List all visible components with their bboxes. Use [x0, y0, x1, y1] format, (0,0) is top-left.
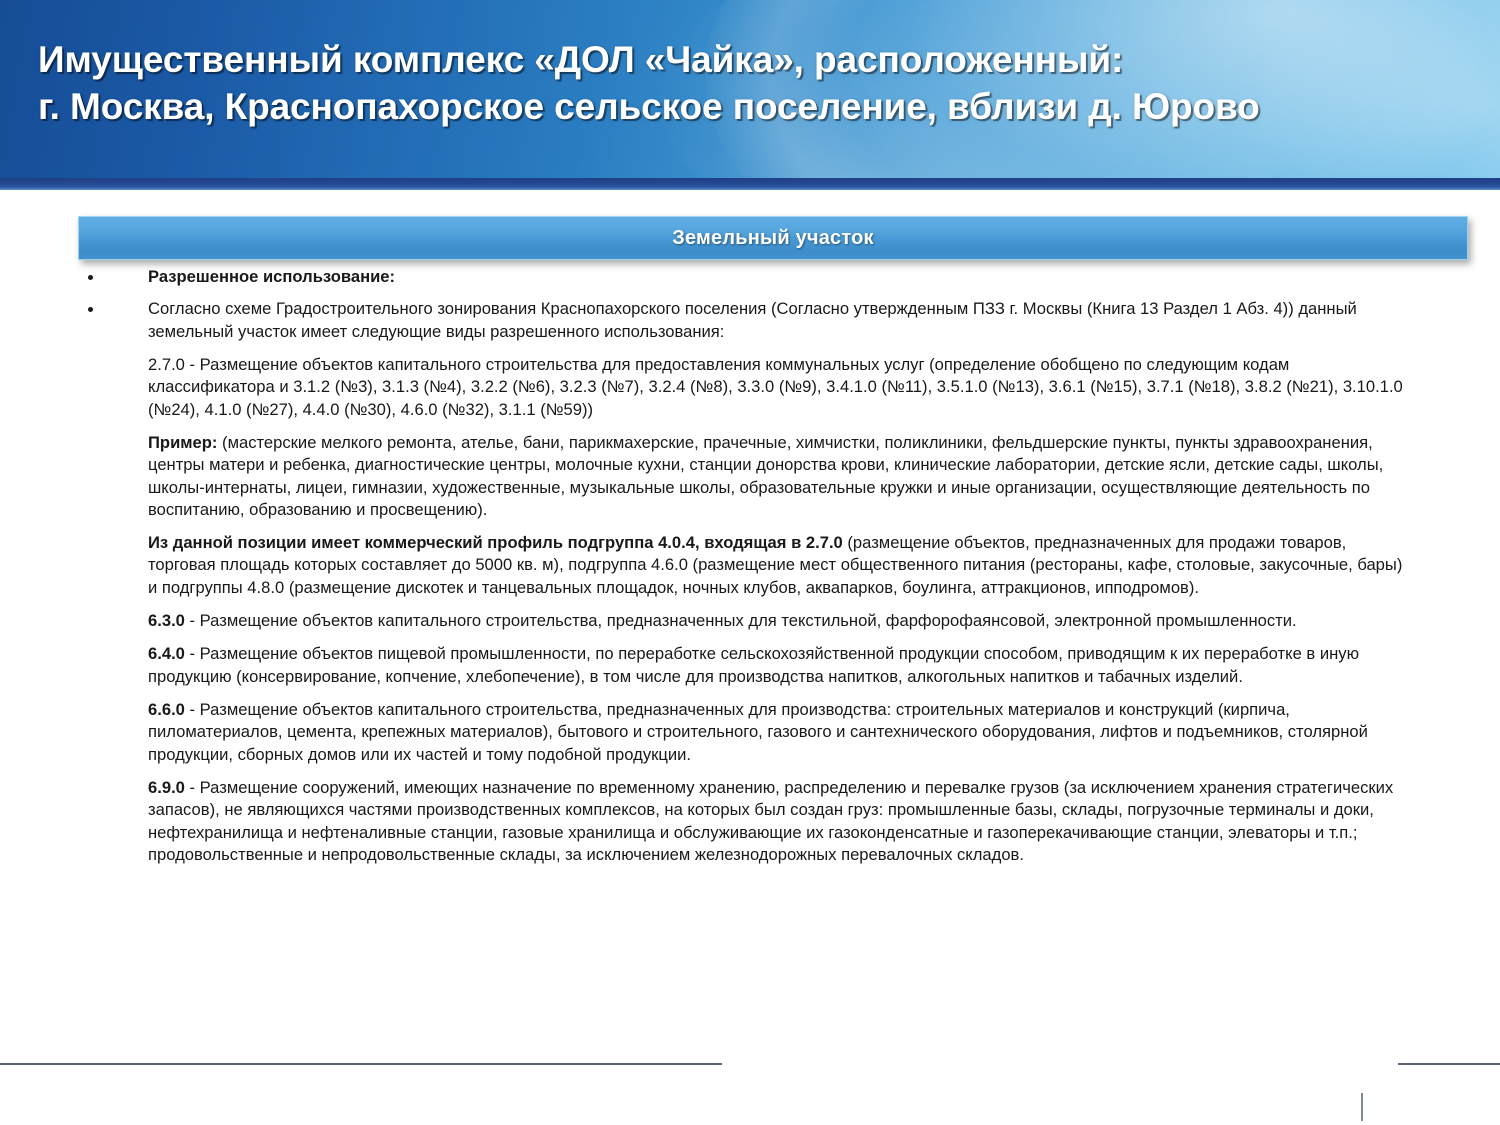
- code-6-4-0-text: - Размещение объектов пищевой промышленн…: [148, 644, 1359, 685]
- paragraph-example: Пример: (мастерские мелкого ремонта, ате…: [0, 432, 1500, 521]
- bullet-dot-icon: [88, 275, 93, 280]
- section-banner-label: Земельный участок: [672, 227, 873, 250]
- paragraph-commercial-profile: Из данной позиции имеет коммерческий про…: [0, 532, 1500, 599]
- paragraph-code-6-4-0: 6.4.0 - Размещение объектов пищевой пром…: [0, 643, 1500, 688]
- code-6-3-0-text: - Размещение объектов капитального строи…: [185, 611, 1297, 630]
- code-6-3-0-label: 6.3.0: [148, 611, 185, 630]
- permitted-use-label: Разрешенное использование:: [148, 267, 395, 286]
- paragraph-code-6-9-0: 6.9.0 - Размещение сооружений, имеющих н…: [0, 777, 1500, 866]
- bullet-dot-icon: [88, 307, 93, 312]
- bullet-item-zoning-scheme: Согласно схеме Градостроительного зониро…: [0, 298, 1500, 343]
- code-6-4-0-label: 6.4.0: [148, 644, 185, 663]
- commercial-profile-label: Из данной позиции имеет коммерческий про…: [148, 533, 843, 552]
- example-label: Пример:: [148, 433, 217, 452]
- code-6-6-0-text: - Размещение объектов капитального строи…: [148, 700, 1368, 764]
- section-banner: Земельный участок: [78, 216, 1468, 260]
- page-title: Имущественный комплекс «ДОЛ «Чайка», рас…: [38, 36, 1468, 131]
- paragraph-code-2-7-0: 2.7.0 - Размещение объектов капитального…: [0, 354, 1500, 421]
- example-text: (мастерские мелкого ремонта, ателье, бан…: [148, 433, 1383, 519]
- paragraph-code-6-3-0: 6.3.0 - Размещение объектов капитального…: [0, 610, 1500, 632]
- paragraph-code-6-6-0: 6.6.0 - Размещение объектов капитального…: [0, 699, 1500, 766]
- footer-divider-right: [1398, 1063, 1500, 1065]
- header-bottom-strip: [0, 178, 1500, 190]
- footer-tick-mark: [1361, 1093, 1363, 1121]
- code-6-9-0-label: 6.9.0: [148, 778, 185, 797]
- slide-header-banner: Имущественный комплекс «ДОЛ «Чайка», рас…: [0, 0, 1500, 190]
- code-6-6-0-label: 6.6.0: [148, 700, 185, 719]
- code-6-9-0-text: - Размещение сооружений, имеющих назначе…: [148, 778, 1393, 864]
- bullet-item-permitted-use: Разрешенное использование:: [0, 266, 1500, 288]
- footer-divider-left: [0, 1063, 722, 1065]
- content-body: Разрешенное использование: Согласно схем…: [0, 266, 1500, 866]
- slide: Имущественный комплекс «ДОЛ «Чайка», рас…: [0, 0, 1500, 1125]
- zoning-scheme-text: Согласно схеме Градостроительного зониро…: [148, 299, 1357, 340]
- code-2-7-0-text: 2.7.0 - Размещение объектов капитального…: [148, 355, 1403, 419]
